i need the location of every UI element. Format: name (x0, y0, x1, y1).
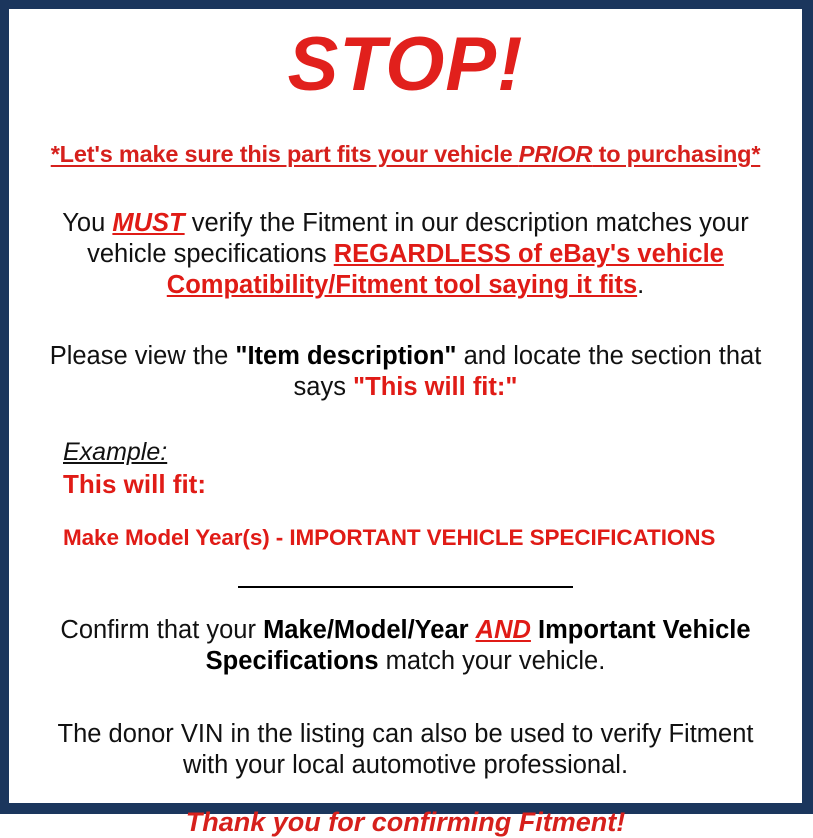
paragraph-confirm: Confirm that your Make/Model/Year AND Im… (17, 615, 794, 677)
notice-inner-content: STOP! *Let's make sure this part fits yo… (9, 9, 802, 803)
closing-thanks: Thank you for confirming Fitment! (17, 807, 794, 838)
make-model-year-label: Make/Model/Year (263, 616, 469, 644)
example-spec-line: Make Model Year(s) - IMPORTANT VEHICLE S… (63, 525, 794, 551)
confirm-text-2: match your vehicle. (379, 647, 606, 675)
tagline-emphasis-prior: PRIOR (519, 141, 592, 167)
example-block: Example: This will fit: Make Model Year(… (17, 438, 794, 551)
this-will-fit-quote: "This will fit:" (353, 373, 517, 401)
page-title: STOP! (17, 27, 794, 103)
fitment-notice-card: STOP! *Let's make sure this part fits yo… (0, 0, 813, 814)
tagline-text-before: *Let's make sure this part fits your veh… (51, 141, 519, 167)
confirm-space-1 (469, 616, 476, 644)
confirm-space-2 (531, 616, 538, 644)
confirm-text-1: Confirm that your (60, 616, 263, 644)
example-label: Example: (63, 438, 167, 467)
must-text-1: You (62, 209, 112, 237)
tagline-text-after: to purchasing* (592, 141, 760, 167)
example-label-row: Example: (63, 438, 794, 467)
itemdesc-text-1: Please view the (50, 342, 236, 370)
section-divider (17, 579, 794, 593)
and-emphasis: AND (476, 616, 531, 644)
tagline-banner: *Let's make sure this part fits your veh… (17, 141, 794, 168)
divider-rule (238, 586, 573, 588)
example-this-will-fit: This will fit: (63, 469, 794, 500)
paragraph-item-description: Please view the "Item description" and l… (17, 341, 794, 403)
must-text-3: . (637, 271, 644, 299)
paragraph-must-verify: You MUST verify the Fitment in our descr… (17, 208, 794, 301)
item-description-label: "Item description" (235, 342, 456, 370)
paragraph-donor-vin: The donor VIN in the listing can also be… (17, 719, 794, 781)
must-emphasis: MUST (112, 209, 184, 237)
